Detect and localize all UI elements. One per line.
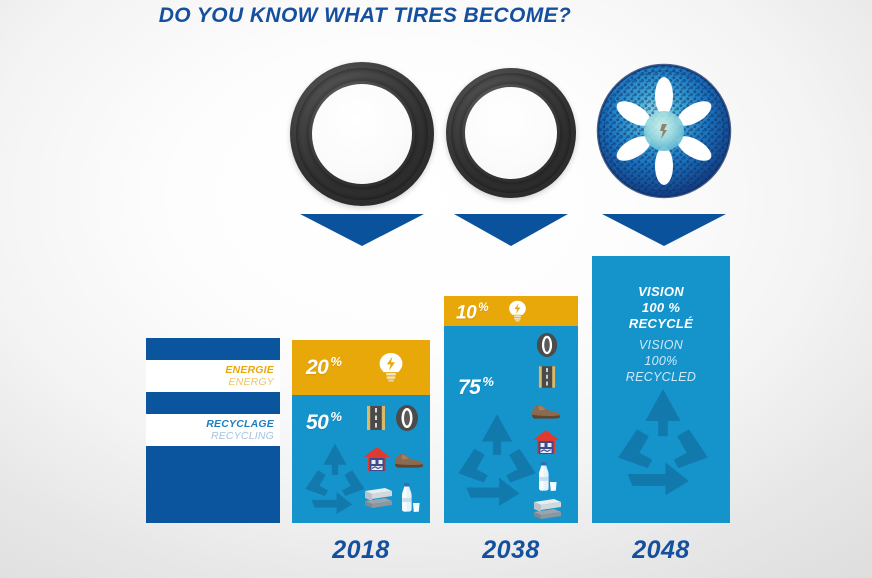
conventional-tire-icon xyxy=(446,68,576,198)
recycle-symbol-watermark xyxy=(604,378,722,504)
page-title: DO YOU KNOW WHAT TIRES BECOME? xyxy=(0,4,730,28)
road-icon xyxy=(532,362,562,392)
vision-fr-line2: 100 % xyxy=(592,300,730,316)
bar-2038-energy-segment: 10% xyxy=(444,296,578,326)
steel-beam-icon xyxy=(528,496,564,522)
pct-value: 75 xyxy=(458,376,480,399)
vision-en-line1: VISION xyxy=(592,337,730,353)
bar-2038-energy-percent: 10% xyxy=(456,301,488,324)
vision-fr-line1: VISION xyxy=(592,284,730,300)
conventional-tire-icon xyxy=(290,62,434,206)
legend-item-energy: ENERGIE ENERGY xyxy=(146,360,280,392)
down-arrow-2048 xyxy=(600,212,728,248)
pct-value: 20 xyxy=(306,356,328,379)
shoe-icon xyxy=(392,443,426,475)
pct-symbol: % xyxy=(482,374,493,389)
bottle-icon xyxy=(394,481,424,515)
pct-value: 10 xyxy=(456,302,476,323)
bar-2038-recycling-segment: 75% xyxy=(444,326,578,523)
bar-2018-energy-segment: 20% xyxy=(292,340,430,395)
down-arrow-2018 xyxy=(298,212,426,248)
tire-inner-hole xyxy=(465,87,557,179)
year-label-2038: 2038 xyxy=(441,536,581,565)
tire-illustration-2048 xyxy=(595,62,733,200)
steel-beam-icon xyxy=(360,483,394,513)
pct-symbol: % xyxy=(330,354,341,369)
house-icon xyxy=(530,426,562,458)
vision-en-line2: 100% xyxy=(592,353,730,369)
vision-text-block: VISION 100 % RECYCLÉ VISION 100% RECYCLE… xyxy=(592,284,730,385)
lightbulb-icon xyxy=(374,350,408,384)
down-arrow-2038 xyxy=(452,212,570,248)
legend-recycling-en: RECYCLING xyxy=(211,430,274,442)
vision-airless-wheel-icon xyxy=(595,62,733,200)
pct-symbol: % xyxy=(330,409,341,424)
legend-energy-fr: ENERGIE xyxy=(225,364,274,376)
road-icon xyxy=(362,403,390,433)
year-label-2048: 2048 xyxy=(591,536,731,565)
lightbulb-icon xyxy=(504,298,530,324)
legend-item-recycling: RECYCLAGE RECYCLING xyxy=(146,414,280,446)
tire-illustration-2038 xyxy=(446,68,576,198)
bar-2018: 20% 50% xyxy=(292,340,430,523)
tire-icon xyxy=(532,330,562,360)
house-icon xyxy=(362,443,392,475)
pct-symbol: % xyxy=(478,301,488,314)
bar-2038: 10% 75% xyxy=(444,296,578,523)
shoe-icon xyxy=(528,396,564,424)
bar-2018-recycling-segment: 50% xyxy=(292,395,430,523)
bottle-icon xyxy=(530,460,562,494)
legend-recycling-fr: RECYCLAGE xyxy=(206,418,274,430)
tire-illustration-2018 xyxy=(290,62,434,206)
legend-energy-en: ENERGY xyxy=(228,376,274,388)
legend-column: ENERGIE ENERGY RECYCLAGE RECYCLING xyxy=(146,338,280,523)
vision-fr-line3: RECYCLÉ xyxy=(592,316,730,332)
year-label-2018: 2018 xyxy=(291,536,431,565)
pct-value: 50 xyxy=(306,411,328,434)
tire-icon xyxy=(392,403,422,433)
bar-2018-recycling-percent: 50% xyxy=(306,409,341,435)
infographic-canvas: DO YOU KNOW WHAT TIRES BECOME? xyxy=(0,0,872,578)
tire-inner-hole xyxy=(312,84,413,185)
vision-en-line3: RECYCLED xyxy=(592,369,730,385)
bar-2038-recycling-percent: 75% xyxy=(458,374,493,400)
bar-2048: VISION 100 % RECYCLÉ VISION 100% RECYCLE… xyxy=(592,256,730,523)
bar-2018-energy-percent: 20% xyxy=(306,354,341,380)
